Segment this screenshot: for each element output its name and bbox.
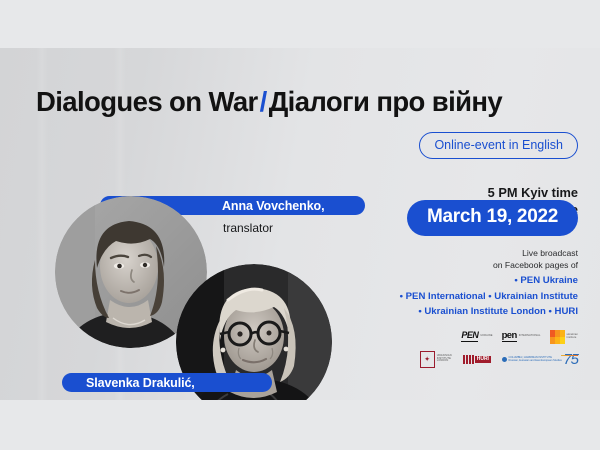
partner-logos: PEN UKRAINE pen INTERNATIONAL ukrai: [358, 328, 578, 373]
speaker-name-slavenka-drakulic: Slavenka Drakulić,: [62, 373, 272, 392]
ukrainian-institute-london-logo: ✦ UKRAINIAN INSTITUTE LONDON: [420, 351, 452, 368]
event-details-panel: Online-event in English 5 PM Kyiv time 3…: [348, 48, 578, 400]
partner-logos-row-1: PEN UKRAINE pen INTERNATIONAL ukrai: [358, 328, 578, 345]
pen-international-wordmark: pen: [502, 331, 517, 342]
ukrainian-institute-mark: [550, 330, 565, 344]
speaker-name-label: Slavenka Drakulić,: [86, 376, 195, 390]
columbia-crown-icon: [502, 357, 507, 362]
huri-bars-icon: [463, 355, 474, 364]
harriman-75-anniversary-mark: 75: [563, 352, 578, 367]
broadcast-heading-line2: on Facebook pages of: [493, 259, 578, 271]
huri-wordmark: HURI: [475, 356, 491, 363]
columbia-harriman-logo: COLUMBIA | HARRIMAN INSTITUTE Russian, E…: [502, 352, 578, 367]
ukrainian-institute-caption: ukrainian institute: [567, 334, 578, 340]
broadcast-line: • PEN International • Ukrainian Institut…: [400, 289, 578, 305]
broadcast-line: • PEN Ukraine: [400, 273, 578, 289]
date-badge: March 19, 2022: [407, 200, 578, 236]
time-kyiv: 5 PM Kyiv time: [468, 184, 578, 201]
event-banner: Dialogues on War/Діалоги про війну: [0, 48, 600, 400]
poster-frame: Dialogues on War/Діалоги про війну: [0, 0, 600, 450]
broadcast-line: • Ukrainian Institute London • HURI: [400, 304, 578, 320]
broadcast-pages-list: • PEN Ukraine • PEN International • Ukra…: [400, 273, 578, 320]
huri-logo: HURI: [463, 355, 491, 364]
partner-logos-row-2: ✦ UKRAINIAN INSTITUTE LONDON HURI: [358, 350, 578, 368]
broadcast-heading-line1: Live broadcast: [493, 247, 578, 259]
speaker-role-anna-vovchenko: translator: [223, 221, 273, 235]
pen-ukraine-logo: PEN UKRAINE: [461, 331, 492, 342]
columbia-caption: COLUMBIA | HARRIMAN INSTITUTE Russian, E…: [508, 356, 561, 362]
title-separator: /: [258, 86, 269, 117]
speaker-name-label: Anna Vovchenko,: [222, 199, 324, 213]
pen-international-logo: pen INTERNATIONAL: [502, 331, 541, 342]
title-english: Dialogues on War: [36, 86, 258, 117]
format-badge: Online-event in English: [419, 132, 578, 159]
broadcast-heading: Live broadcast on Facebook pages of: [493, 247, 578, 272]
ukrainian-institute-logo: ukrainian institute: [550, 330, 578, 344]
uil-crest-icon: ✦: [420, 351, 435, 368]
speaker-role-slavenka-drakulic: author: [152, 398, 186, 400]
uil-caption: UKRAINIAN INSTITUTE LONDON: [437, 355, 452, 364]
pen-international-caption: INTERNATIONAL: [519, 335, 541, 338]
pen-ukraine-wordmark: PEN: [461, 331, 478, 342]
pen-ukraine-caption: UKRAINE: [480, 335, 492, 338]
